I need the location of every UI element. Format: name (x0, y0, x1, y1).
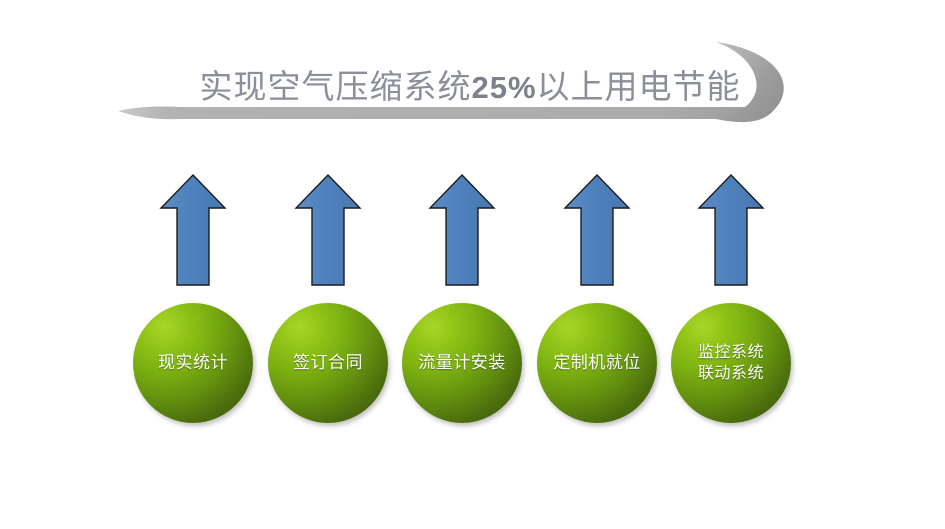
process-step[interactable]: 现实统计 (126, 170, 260, 426)
step-circle[interactable]: 签订合同 (268, 303, 388, 423)
up-arrow-icon (294, 172, 362, 288)
process-step[interactable]: 监控系统 联动系统 (664, 170, 798, 426)
up-arrow-icon (428, 172, 496, 288)
process-step[interactable]: 定制机就位 (530, 170, 664, 426)
step-label: 签订合同 (289, 352, 367, 374)
step-circle[interactable]: 监控系统 联动系统 (671, 303, 791, 423)
slide-canvas: 实现空气压缩系统25%以上用电节能 (0, 0, 945, 529)
process-steps: 现实统计 签 (0, 0, 945, 529)
process-step[interactable]: 流量计安装 (395, 170, 529, 426)
step-circle[interactable]: 定制机就位 (537, 303, 657, 423)
step-circle[interactable]: 现实统计 (133, 303, 253, 423)
process-step[interactable]: 签订合同 (261, 170, 395, 426)
up-arrow-icon (159, 172, 227, 288)
up-arrow-icon (563, 172, 631, 288)
step-circle[interactable]: 流量计安装 (402, 303, 522, 423)
step-label: 流量计安装 (414, 352, 510, 374)
step-label: 现实统计 (154, 352, 232, 374)
step-label: 监控系统 联动系统 (694, 342, 768, 384)
step-label: 定制机就位 (549, 352, 645, 374)
up-arrow-icon (697, 172, 765, 288)
